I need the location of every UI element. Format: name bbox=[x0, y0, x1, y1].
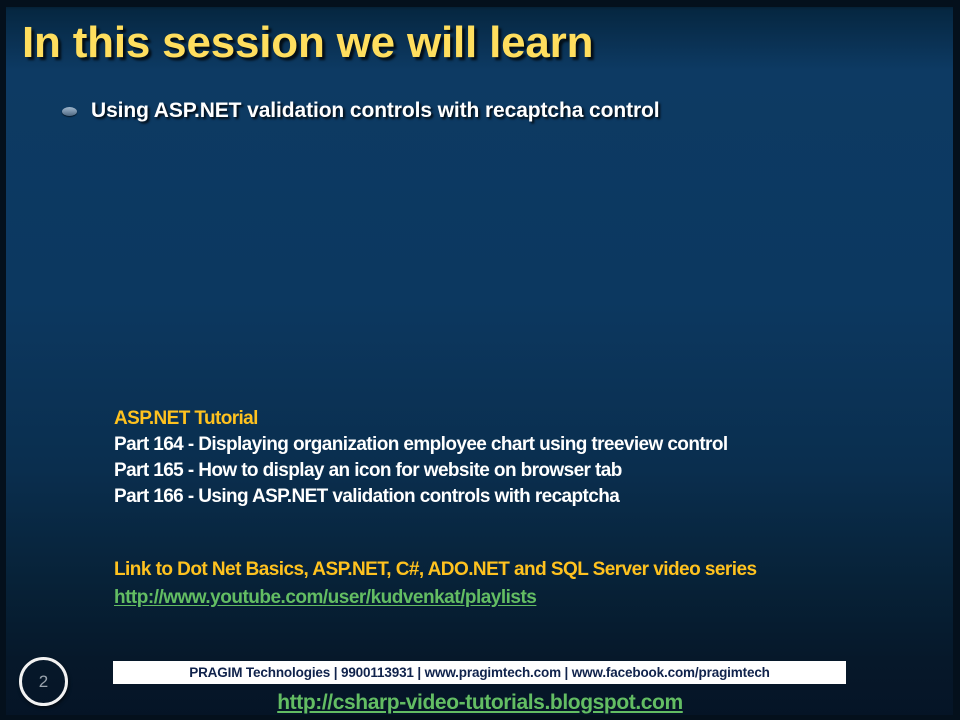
tutorial-part-164: Part 164 - Displaying organization emplo… bbox=[114, 432, 914, 458]
blog-url-link[interactable]: http://csharp-video-tutorials.blogspot.c… bbox=[0, 691, 960, 715]
bullet-list-item: Using ASP.NET validation controls with r… bbox=[62, 99, 660, 123]
footer-contact-text: PRAGIM Technologies | 9900113931 | www.p… bbox=[189, 665, 770, 680]
slide-number-label: 2 bbox=[39, 673, 48, 690]
ellipse-bullet-icon bbox=[62, 107, 77, 116]
tutorial-part-165: Part 165 - How to display an icon for we… bbox=[114, 458, 914, 484]
tutorial-listing: ASP.NET Tutorial Part 164 - Displaying o… bbox=[114, 406, 914, 510]
video-series-links: Link to Dot Net Basics, ASP.NET, C#, ADO… bbox=[114, 556, 934, 611]
tutorial-heading: ASP.NET Tutorial bbox=[114, 406, 914, 432]
slide-frame-left bbox=[0, 0, 6, 720]
slide-title: In this session we will learn bbox=[22, 18, 922, 68]
slide-frame-top bbox=[0, 0, 960, 7]
presentation-slide: In this session we will learn Using ASP.… bbox=[0, 0, 960, 720]
tutorial-part-166: Part 166 - Using ASP.NET validation cont… bbox=[114, 484, 914, 510]
video-series-label: Link to Dot Net Basics, ASP.NET, C#, ADO… bbox=[114, 556, 934, 583]
youtube-playlists-link[interactable]: http://www.youtube.com/user/kudvenkat/pl… bbox=[114, 585, 536, 611]
bullet-item-label: Using ASP.NET validation controls with r… bbox=[91, 99, 660, 123]
footer-contact-banner: PRAGIM Technologies | 9900113931 | www.p… bbox=[113, 661, 846, 684]
slide-frame-right bbox=[953, 0, 960, 720]
slide-frame-bottom bbox=[0, 715, 960, 720]
